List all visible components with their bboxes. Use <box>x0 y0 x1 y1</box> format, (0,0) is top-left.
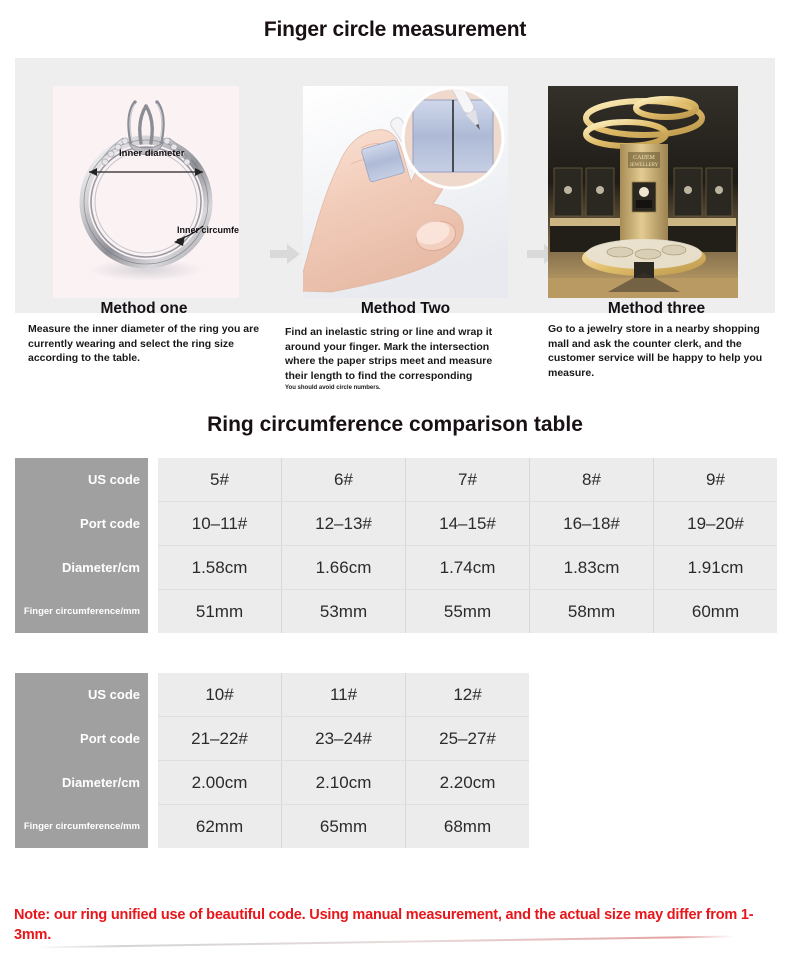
table-two: US code 10# 11# 12# Port code 21–22# 23–… <box>15 673 529 848</box>
table-row: Diameter/cm 2.00cm 2.10cm 2.20cm <box>15 761 529 805</box>
row-label-us-code-2: US code <box>15 673 148 717</box>
table-spacer <box>148 546 158 590</box>
table-spacer <box>148 805 158 849</box>
row-label-port-code-2: Port code <box>15 717 148 761</box>
cell-port-code-4: 19–20# <box>654 502 778 546</box>
method-three-description: Go to a jewelry store in a nearby shoppi… <box>548 322 780 380</box>
cell2-circumference-2: 68mm <box>406 805 530 849</box>
svg-text:CAIJEM: CAIJEM <box>633 155 655 161</box>
cell-diameter-3: 1.83cm <box>530 546 654 590</box>
row-label-port-code: Port code <box>15 502 148 546</box>
method-panel-one: Inner diameter Inner circumference Metho… <box>15 58 273 313</box>
method-panel-three: CAIJEM JEWELLERY <box>538 58 775 313</box>
cell2-us-code-1: 11# <box>282 673 406 717</box>
svg-text:JEWELLERY: JEWELLERY <box>630 163 659 168</box>
method-two-description-small: You should avoid circle numbers. <box>285 384 500 393</box>
cell-us-code-0: 5# <box>158 458 282 502</box>
cell-diameter-1: 1.66cm <box>282 546 406 590</box>
cell2-circumference-1: 65mm <box>282 805 406 849</box>
page-title: Finger circle measurement <box>0 18 790 42</box>
table-spacer <box>148 673 158 717</box>
inner-circumference-label: Inner circumference <box>177 225 239 236</box>
cell-port-code-3: 16–18# <box>530 502 654 546</box>
cell-diameter-0: 1.58cm <box>158 546 282 590</box>
cell2-port-code-2: 25–27# <box>406 717 530 761</box>
row-label-us-code: US code <box>15 458 148 502</box>
method-two-description-text: Find an inelastic string or line and wra… <box>285 326 492 382</box>
row-label-finger-circumference: Finger circumference/mm <box>15 590 148 634</box>
table-spacer <box>148 458 158 502</box>
cell-us-code-4: 9# <box>654 458 778 502</box>
method-one-caption: Method one <box>15 300 273 318</box>
ring-diagram-image: Inner diameter Inner circumference <box>53 86 239 298</box>
table-row: Port code 21–22# 23–24# 25–27# <box>15 717 529 761</box>
jewelry-store-illustration: CAIJEM JEWELLERY <box>548 86 738 298</box>
row-label-diameter: Diameter/cm <box>15 546 148 590</box>
row-label-finger-circumference-2: Finger circumference/mm <box>15 805 148 849</box>
cell2-diameter-2: 2.20cm <box>406 761 530 805</box>
footer-note: Note: our ring unified use of beautiful … <box>14 905 779 945</box>
cell2-us-code-2: 12# <box>406 673 530 717</box>
cell-port-code-2: 14–15# <box>406 502 530 546</box>
table-spacer <box>148 590 158 634</box>
cell2-circumference-0: 62mm <box>158 805 282 849</box>
method-three-caption: Method three <box>538 300 775 318</box>
cell-circumference-0: 51mm <box>158 590 282 634</box>
table-row: US code 5# 6# 7# 8# 9# <box>15 458 777 502</box>
row-label-diameter-2: Diameter/cm <box>15 761 148 805</box>
inner-diameter-label: Inner diameter <box>119 148 184 159</box>
table-row: Port code 10–11# 12–13# 14–15# 16–18# 19… <box>15 502 777 546</box>
cell2-us-code-0: 10# <box>158 673 282 717</box>
method-two-caption: Method Two <box>283 300 528 318</box>
cell-diameter-4: 1.91cm <box>654 546 778 590</box>
cell2-port-code-1: 23–24# <box>282 717 406 761</box>
cell-circumference-4: 60mm <box>654 590 778 634</box>
cell-circumference-1: 53mm <box>282 590 406 634</box>
table-one: US code 5# 6# 7# 8# 9# Port code 10–11# … <box>15 458 777 633</box>
cell2-diameter-0: 2.00cm <box>158 761 282 805</box>
table-spacer <box>148 761 158 805</box>
table-spacer <box>148 502 158 546</box>
ring-size-table-one: US code 5# 6# 7# 8# 9# Port code 10–11# … <box>15 458 777 633</box>
ring-size-table-two: US code 10# 11# 12# Port code 21–22# 23–… <box>15 673 529 848</box>
footer-note-wrap: Note: our ring unified use of beautiful … <box>14 905 779 945</box>
table-two-body: US code 10# 11# 12# Port code 21–22# 23–… <box>15 673 529 848</box>
table-row: US code 10# 11# 12# <box>15 673 529 717</box>
table-row: Diameter/cm 1.58cm 1.66cm 1.74cm 1.83cm … <box>15 546 777 590</box>
ring-illustration-svg <box>53 86 239 298</box>
cell2-port-code-0: 21–22# <box>158 717 282 761</box>
hand-photo-illustration <box>303 86 508 298</box>
cell-us-code-1: 6# <box>282 458 406 502</box>
cell-port-code-0: 10–11# <box>158 502 282 546</box>
method-one-description: Measure the inner diameter of the ring y… <box>28 322 273 366</box>
cell-diameter-2: 1.74cm <box>406 546 530 590</box>
table-row: Finger circumference/mm 51mm 53mm 55mm 5… <box>15 590 777 634</box>
cell-port-code-1: 12–13# <box>282 502 406 546</box>
table-one-body: US code 5# 6# 7# 8# 9# Port code 10–11# … <box>15 458 777 633</box>
table-spacer <box>148 717 158 761</box>
cell-circumference-2: 55mm <box>406 590 530 634</box>
method-panel-two: Method Two <box>283 58 528 313</box>
methods-band: Inner diameter Inner circumference Metho… <box>15 58 775 313</box>
method-two-description: Find an inelastic string or line and wra… <box>285 325 500 393</box>
cell-circumference-3: 58mm <box>530 590 654 634</box>
hand-paper-strip-image <box>303 86 508 298</box>
jewelry-store-image: CAIJEM JEWELLERY <box>548 86 738 298</box>
table-row: Finger circumference/mm 62mm 65mm 68mm <box>15 805 529 849</box>
cell-us-code-2: 7# <box>406 458 530 502</box>
table-section-title: Ring circumference comparison table <box>0 413 790 437</box>
cell-us-code-3: 8# <box>530 458 654 502</box>
cell2-diameter-1: 2.10cm <box>282 761 406 805</box>
